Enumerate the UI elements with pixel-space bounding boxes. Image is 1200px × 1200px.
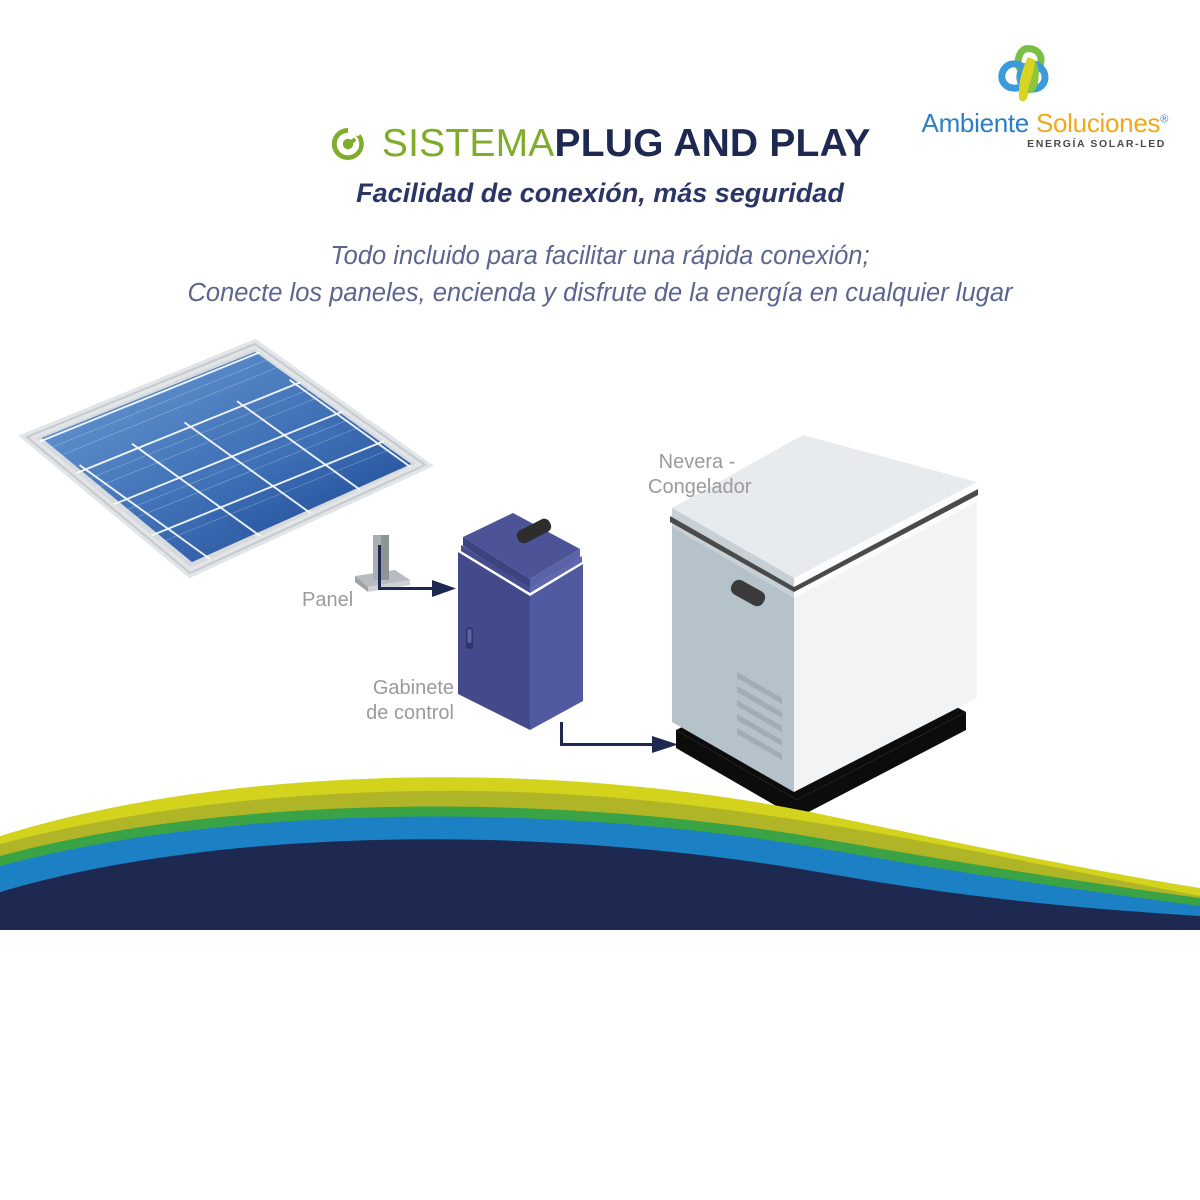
ambiente-trefoil-logo-icon (992, 45, 1056, 107)
features-list: Alta resistencia al desgaste Funcionamie… (0, 1000, 1200, 1170)
page-title: SISTEMAPLUG AND PLAY (0, 122, 1200, 166)
label-freezer-line2: Congelador (648, 475, 746, 500)
label-freezer-line1: Nevera - (648, 450, 746, 475)
power-cycle-icon (329, 125, 367, 163)
lead-line-1: Todo incluido para facilitar una rápida … (0, 238, 1200, 275)
title-part-plugandplay: PLUG AND PLAY (554, 122, 870, 165)
infographic-page: AmbienteSoluciones® ENERGÍA SOLAR-LED SI… (0, 0, 1200, 1200)
system-diagram (0, 330, 1200, 830)
label-cabinet-line2: de control (358, 701, 454, 726)
control-cabinet-illustration (458, 513, 583, 730)
arrow-cabinet-to-freezer (560, 722, 678, 753)
label-panel: Panel (302, 588, 353, 613)
label-freezer: Nevera - Congelador (648, 450, 746, 500)
page-subtitle: Facilidad de conexión, más seguridad (0, 178, 1200, 209)
solar-panel-illustration (0, 330, 470, 630)
label-cabinet-line1: Gabinete (358, 676, 454, 701)
page-lead-text: Todo incluido para facilitar una rápida … (0, 238, 1200, 312)
title-part-sistema: SISTEMA (382, 122, 555, 165)
lead-line-2: Conecte los paneles, encienda y disfrute… (0, 275, 1200, 312)
label-control-cabinet: Gabinete de control (358, 676, 454, 726)
wave-divider (0, 770, 1200, 930)
